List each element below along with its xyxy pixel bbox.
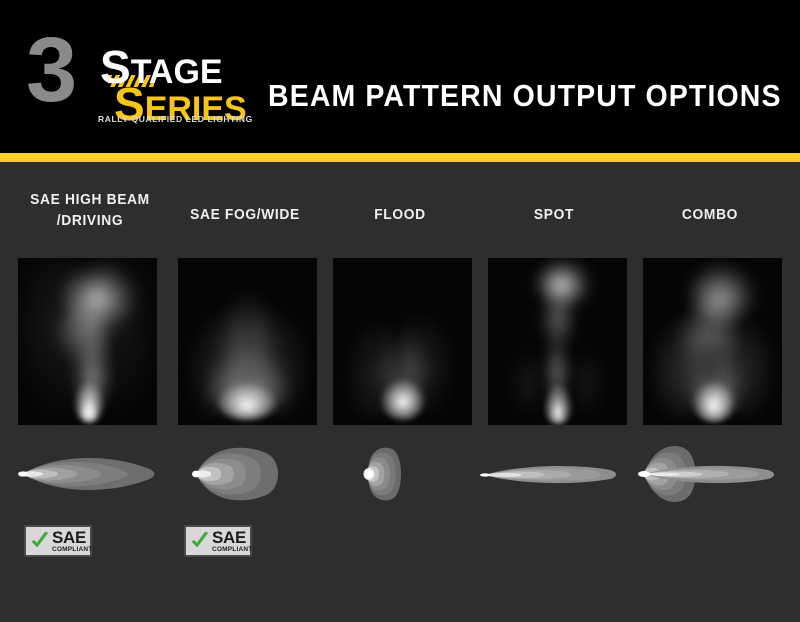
- beam-diagram-sae-high-beam-driving: [16, 443, 166, 505]
- column-label-combo: COMBO: [644, 205, 777, 226]
- column-label-sae-high-beam-driving: SAE HIGH BEAM /DRIVING: [16, 190, 164, 232]
- photo-flood: [333, 258, 472, 425]
- beam-diagram-combo: [628, 443, 788, 505]
- sae-badge-subtitle: COMPLIANT: [212, 547, 252, 554]
- column-label-line1: COMBO: [644, 205, 777, 226]
- column-label-line1: SAE FOG/WIDE: [176, 205, 315, 226]
- column-label-line2: /DRIVING: [16, 211, 164, 232]
- column-label-line1: FLOOD: [334, 205, 467, 226]
- page-title: BEAM PATTERN OUTPUT OPTIONS: [268, 78, 782, 114]
- column-label-line1: SPOT: [488, 205, 619, 226]
- sae-compliant-badge-high-beam: SAE COMPLIANT: [24, 525, 92, 557]
- logo-tagline: RALLY-QUALIFIED LED LIGHTING: [98, 114, 253, 124]
- column-label-sae-fog-wide: SAE FOG/WIDE: [176, 205, 315, 226]
- column-label-flood: FLOOD: [334, 205, 467, 226]
- header-bar: 3 STAGE SERIES RALLY-QUALIFIED LED LIGHT…: [0, 0, 800, 153]
- beam-pattern-chart: 3 STAGE SERIES RALLY-QUALIFIED LED LIGHT…: [0, 0, 800, 622]
- column-label-spot: SPOT: [488, 205, 619, 226]
- sae-compliant-badge-fog-wide: SAE COMPLIANT: [184, 525, 252, 557]
- beam-diagram-flood: [358, 443, 448, 505]
- photo-sae-fog-wide: [178, 258, 317, 425]
- column-label-line1: SAE HIGH BEAM: [16, 190, 164, 211]
- photo-spot: [488, 258, 627, 425]
- beam-diagram-sae-fog-wide: [190, 443, 310, 505]
- logo-numeral: 3: [26, 24, 73, 116]
- photo-combo: [643, 258, 782, 425]
- beam-diagram-spot: [478, 443, 628, 505]
- green-check-icon: [189, 530, 211, 552]
- photo-sae-high-beam-driving: [18, 258, 157, 425]
- yellow-accent-bar: [0, 153, 800, 162]
- green-check-icon: [29, 530, 51, 552]
- stage-series-logo: 3 STAGE SERIES RALLY-QUALIFIED LED LIGHT…: [26, 30, 256, 125]
- sae-badge-title: SAE: [52, 529, 92, 546]
- sae-badge-subtitle: COMPLIANT: [52, 547, 92, 554]
- sae-badge-title: SAE: [212, 529, 252, 546]
